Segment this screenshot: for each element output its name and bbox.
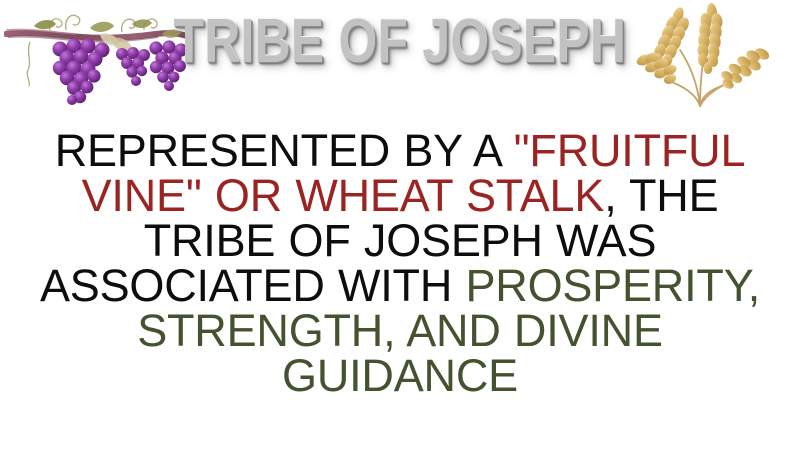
wheat-stalk-2	[696, 2, 723, 74]
wheat-stalks-illustration	[636, 2, 800, 112]
grape-cluster-middle	[116, 47, 150, 86]
slide-canvas: TRIBE OF JOSEPH	[0, 0, 800, 450]
wheat-stalks-svg	[636, 2, 800, 112]
body-segment-1: REPRESENTED BY A	[55, 125, 514, 176]
wheat-stalk-4	[719, 46, 771, 91]
grape-cluster-large	[53, 39, 110, 106]
slide-title-text: TRIBE OF JOSEPH	[174, 9, 626, 75]
body-paragraph: REPRESENTED BY A "FRUITFUL VINE" OR WHEA…	[28, 128, 772, 398]
header-band: TRIBE OF JOSEPH	[0, 0, 800, 112]
slide-title: TRIBE OF JOSEPH	[175, 2, 625, 82]
